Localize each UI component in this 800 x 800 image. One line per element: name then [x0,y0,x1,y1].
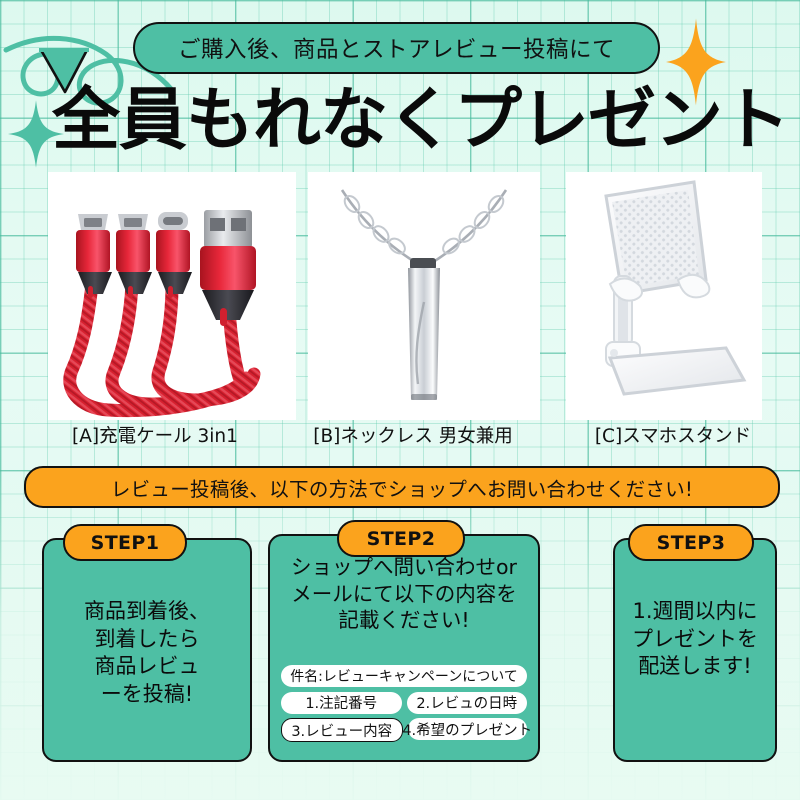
product-label-b: [B]ネックレス 男女兼用 [278,422,548,448]
header-speech-bubble: ご購入後、商品とストアレビュー投稿にて [133,22,660,74]
product-label-a: [A]充電ケール 3in1 [40,422,270,448]
product-label-c: [C]スマホスタンド [548,422,798,448]
step1-body: 商品到着後、 到着したら 商品レビュ ーを投稿! [44,598,250,709]
product-image-necklace [308,172,540,420]
promo-page: ご購入後、商品とストアレビュー投稿にて 全員もれなくプレゼント [0,0,800,800]
step1-line-1: 商品到着後、 [44,598,250,626]
product-image-phone-stand [566,172,762,420]
product-labels: [A]充電ケール 3in1 [B]ネックレス 男女兼用 [C]スマホスタンド [0,422,800,452]
field-review-content: 3.レビュー内容 [281,718,403,742]
step2-badge: STEP2 [337,520,465,557]
step3-body: 1.週間以内に プレゼントを 配送します! [615,598,775,681]
product-image-band [0,172,800,420]
step2-headline-line-2: メールにて以下の内容を [278,581,530,608]
step1-badge: STEP1 [63,524,187,561]
step3-line-3: 配送します! [615,653,775,681]
field-row-2: 3.レビュー内容 4.希望のプレゼント [281,718,527,747]
step1-card: 商品到着後、 到着したら 商品レビュ ーを投稿! [42,538,252,762]
step1-line-2: 到着したら [44,626,250,654]
step1-line-4: ーを投稿! [44,681,250,709]
field-order-number: 1.注記番号 [281,692,402,714]
step3-line-1: 1.週間以内に [615,598,775,626]
instruction-banner: レビュー投稿後、以下の方法でショップへお問い合わせください! [24,466,780,508]
instruction-banner-text: レビュー投稿後、以下の方法でショップへお問い合わせください! [111,473,693,502]
field-review-date: 2.レビュの日時 [407,692,528,714]
product-image-cable [48,172,296,420]
field-subject: 件名:レビューキャンペーンについて [281,665,527,687]
step3-line-2: プレゼントを [615,626,775,654]
step1-line-3: 商品レビュ [44,653,250,681]
step2-headline-line-1: ショップへ問い合わせor [278,554,530,581]
step3-badge: STEP3 [628,524,754,561]
bubble-body: ご購入後、商品とストアレビュー投稿にて [133,22,660,74]
bubble-text: ご購入後、商品とストアレビュー投稿にて [178,32,615,64]
step2-headline: ショップへ問い合わせor メールにて以下の内容を 記載ください! [278,554,530,634]
step2-field-list: 件名:レビューキャンペーンについて 1.注記番号 2.レビュの日時 3.レビュー… [281,665,527,747]
step2-headline-line-3: 記載ください! [278,607,530,634]
field-row-1: 1.注記番号 2.レビュの日時 [281,692,527,719]
step2-card: ショップへ問い合わせor メールにて以下の内容を 記載ください! 件名:レビュー… [268,534,540,762]
step3-card: 1.週間以内に プレゼントを 配送します! [613,538,777,762]
page-title: 全員もれなくプレゼント [52,82,782,160]
field-desired-gift: 4.希望のプレゼント [408,718,528,740]
